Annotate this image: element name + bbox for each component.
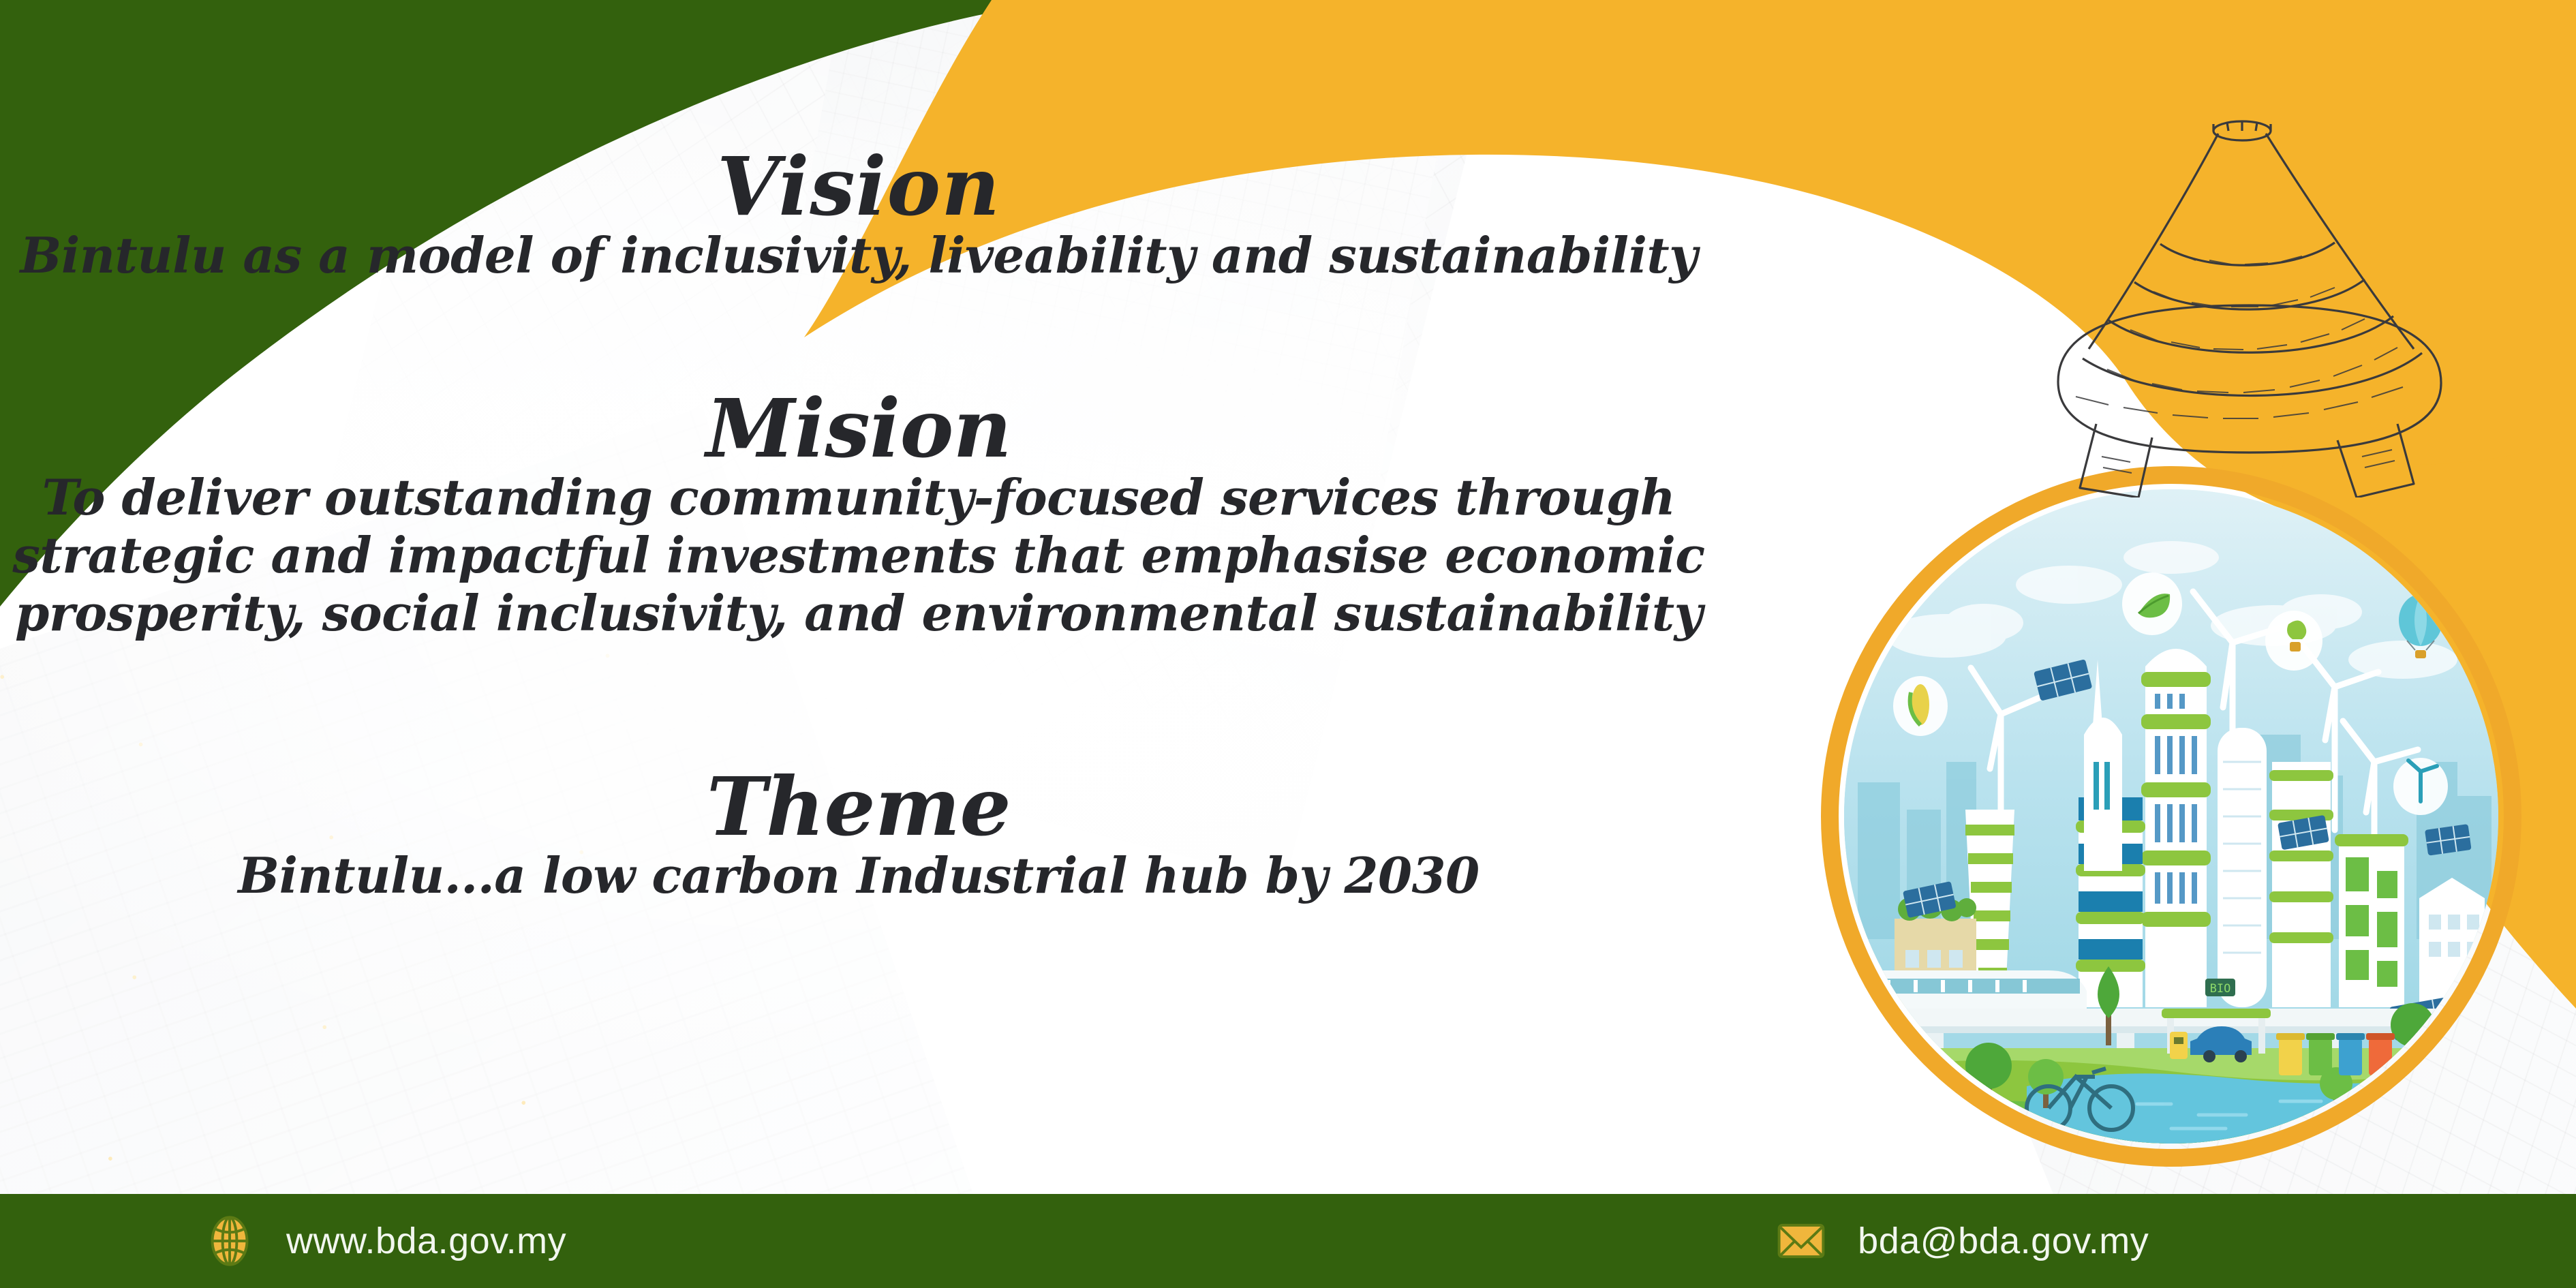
leaf-badge <box>2122 572 2182 635</box>
envelope-icon <box>1776 1216 1826 1266</box>
bintulu-dome-icon <box>1956 89 2569 497</box>
dome-leg-right <box>2337 424 2414 497</box>
bda-vision-mission-banner: Vision Bintulu as a model of inclusivity… <box>0 0 2576 1288</box>
dome-cone <box>2089 134 2218 349</box>
mission-heading: Mision <box>0 388 1717 469</box>
website-label: www.bda.gov.my <box>286 1220 566 1262</box>
theme-section: Theme Bintulu...a low carbon Industrial … <box>0 767 1717 905</box>
theme-heading: Theme <box>0 767 1717 847</box>
corn-badge <box>1893 676 1948 736</box>
svg-text:BIO: BIO <box>2210 982 2231 996</box>
vision-line-1: Bintulu as a model of inclusivity, livea… <box>0 227 1717 285</box>
email-label: bda@bda.gov.my <box>1858 1220 2149 1262</box>
wind-badge <box>2393 758 2448 815</box>
theme-line-1: Bintulu...a low carbon Industrial hub by… <box>0 847 1717 905</box>
mission-line-2: strategic and impactful investments that… <box>0 527 1717 585</box>
eco-city-medallion: BIO <box>1821 466 2521 1167</box>
mission-section: Mision To deliver outstanding community-… <box>0 388 1717 643</box>
dome-tier-1 <box>2160 243 2335 265</box>
mission-line-3: prosperity, social inclusivity, and envi… <box>0 585 1717 643</box>
dome-leg-left <box>2080 424 2152 497</box>
globe-icon <box>204 1216 255 1266</box>
river <box>2027 1073 2471 1144</box>
vision-heading: Vision <box>0 147 1717 227</box>
footer-email[interactable]: bda@bda.gov.my <box>1776 1216 2149 1266</box>
dome-base-rim <box>2058 305 2441 453</box>
text-content: Vision Bintulu as a model of inclusivity… <box>0 0 1717 1194</box>
footer-website[interactable]: www.bda.gov.my <box>204 1216 566 1266</box>
bulb-badge <box>2265 611 2322 671</box>
vision-section: Vision Bintulu as a model of inclusivity… <box>0 147 1717 285</box>
mission-line-1: To deliver outstanding community-focused… <box>0 469 1717 527</box>
dome-tier-4 <box>2083 353 2422 396</box>
contact-footer: www.bda.gov.my bda@bda.gov.my <box>0 1194 2576 1288</box>
medallion-image: BIO <box>1844 489 2498 1144</box>
dome-tier-3 <box>2109 316 2393 352</box>
